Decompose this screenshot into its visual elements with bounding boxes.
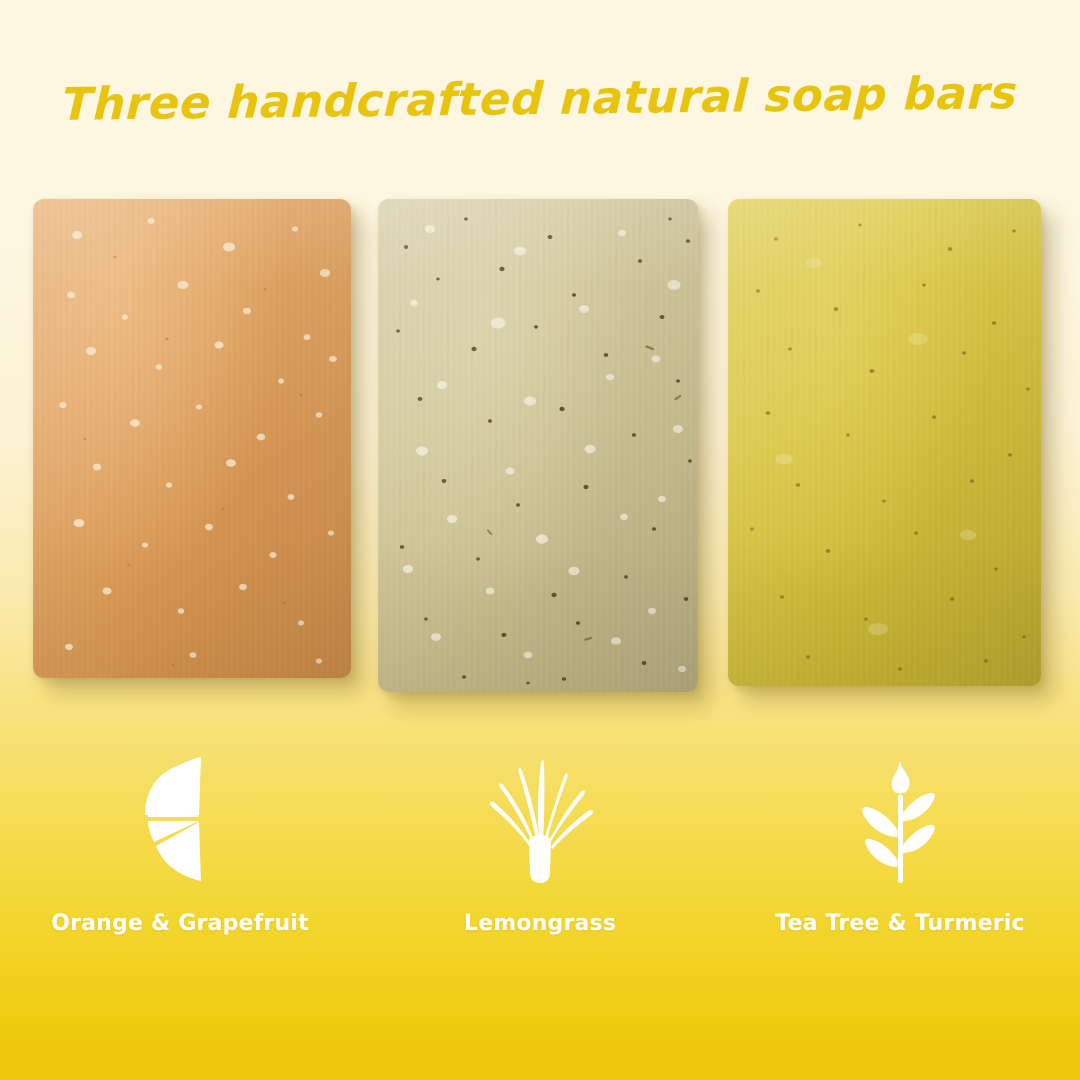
- feature-lemongrass[interactable]: Lemongrass: [360, 755, 720, 990]
- lemongrass-blades-icon: [485, 755, 595, 883]
- feature-label: Orange & Grapefruit: [51, 911, 309, 936]
- soap-sheen: [33, 199, 351, 678]
- feature-label: Lemongrass: [464, 911, 616, 936]
- feature-orange-grapefruit[interactable]: Orange & Grapefruit: [0, 755, 360, 990]
- soap-product-poster: Three handcrafted natural soap bars: [0, 0, 1080, 1080]
- page-title: Three handcrafted natural soap bars: [0, 65, 1080, 131]
- soap-speckles: [33, 199, 351, 678]
- soap-sheen: [728, 199, 1041, 686]
- soap-grain: [33, 199, 351, 678]
- soap-grain: [378, 199, 698, 692]
- feature-label: Tea Tree & Turmeric: [775, 911, 1024, 936]
- feature-row: Orange & Grapefruit Lemongrass: [0, 755, 1080, 990]
- soap-bar-lemongrass[interactable]: [378, 199, 698, 692]
- soap-sheen: [378, 199, 698, 692]
- soap-speckles: [378, 199, 698, 692]
- soap-speckles: [728, 199, 1041, 686]
- soap-bar-tea-tree-turmeric[interactable]: [728, 199, 1041, 686]
- citrus-slice-icon: [137, 755, 223, 883]
- soap-bars-row: [33, 199, 1041, 694]
- herb-sprig-icon: [850, 755, 950, 883]
- soap-bar-orange-grapefruit[interactable]: [33, 199, 351, 678]
- soap-grain: [728, 199, 1041, 686]
- feature-tea-tree-turmeric[interactable]: Tea Tree & Turmeric: [720, 755, 1080, 990]
